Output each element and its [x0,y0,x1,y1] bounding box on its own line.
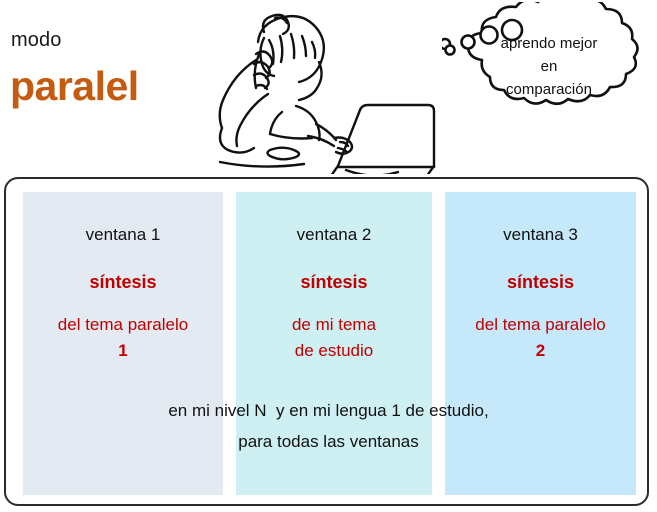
mode-label: modo [11,28,61,52]
synthesis-label-1: síntesis [23,271,223,294]
topic-line-1-b: 1 [23,338,223,364]
thought-bubble-text: aprendo mejor en comparación [466,32,632,101]
person-thinking-at-laptop-illustration [212,2,442,174]
window-label-2: ventana 2 [236,224,432,246]
thought-bubble-line-1: aprendo mejor [466,32,632,55]
window-column-3-content: ventana 3 síntesis del tema paralelo 2 [445,224,636,364]
panel-caption-line-1: en mi nivel N y en mi lengua 1 de estudi… [6,395,651,426]
synthesis-label-3: síntesis [445,271,636,294]
window-column-2-content: ventana 2 síntesis de mi tema de estudio [236,224,432,364]
window-column-1-content: ventana 1 síntesis del tema paralelo 1 [23,224,223,364]
windows-panel: ventana 1 síntesis del tema paralelo 1 v… [4,177,649,506]
page-title: paralel [10,62,139,110]
topic-line-3-b: 2 [445,338,636,364]
window-label-1: ventana 1 [23,224,223,246]
header-area: modo paralel [0,0,657,176]
thought-bubble-line-2: en [466,55,632,78]
thought-bubble-line-3: comparación [466,78,632,101]
topic-line-2-b: de estudio [236,338,432,364]
topic-line-2-a: de mi tema [236,312,432,338]
panel-caption: en mi nivel N y en mi lengua 1 de estudi… [6,395,651,457]
windows-columns: ventana 1 síntesis del tema paralelo 1 v… [6,179,651,508]
topic-line-1-a: del tema paralelo [23,312,223,338]
synthesis-label-2: síntesis [236,271,432,294]
panel-caption-line-2: para todas las ventanas [6,426,651,457]
topic-line-3-a: del tema paralelo [445,312,636,338]
window-label-3: ventana 3 [445,224,636,246]
